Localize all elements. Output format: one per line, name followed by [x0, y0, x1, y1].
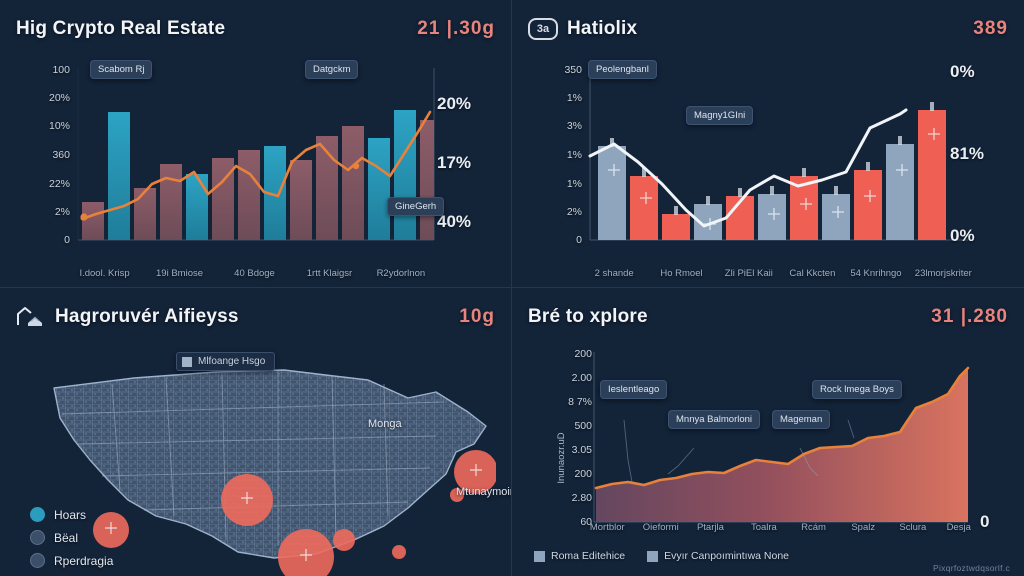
x-tick: Ptarjla	[697, 522, 724, 533]
map-value: 10g	[459, 306, 495, 328]
y-tick: 0	[64, 234, 70, 246]
y-tick: 500	[574, 420, 592, 432]
y-tick: 2.80	[572, 492, 592, 504]
legend-label: Bëal	[54, 531, 78, 545]
panel-crypto: Hig Crypto Real Estate 21 |.30g	[0, 0, 512, 288]
legend-item[interactable]: Rperdragia	[30, 549, 113, 572]
y-tick: 2%	[55, 206, 70, 218]
y-tick: 100	[52, 64, 70, 76]
explore-annotation[interactable]: Ieslentleago	[600, 380, 667, 399]
crypto-bars	[82, 110, 434, 240]
legend-swatch-icon	[534, 551, 545, 562]
hatiolix-y-axis: 350 1% 3% 1% 1% 2% 0	[538, 54, 582, 286]
crypto-y-right-axis: 20% 17% 40%	[437, 54, 489, 286]
panel-hatiolix: 3a Hatiolix 389	[512, 0, 1024, 288]
hatiolix-annotation[interactable]: Magny1GIni	[686, 106, 753, 125]
y-tick: 2%	[567, 206, 582, 218]
y-tick: 200	[574, 348, 592, 360]
badge-icon-label: 3a	[537, 23, 549, 35]
explore-divider	[528, 336, 1008, 338]
badge-icon: 3a	[528, 18, 558, 40]
map-tooltip[interactable]: Mlfoange Hsgo	[176, 352, 275, 371]
panel-explore-header: Bré to xplore 31 |.280	[528, 300, 1008, 334]
legend-label: Rperdragia	[54, 554, 113, 568]
hatiolix-value: 389	[973, 18, 1008, 40]
explore-chart[interactable]: Inunaozr.uD 200 2.00 8 7% 500 3.05 200 2…	[528, 342, 1008, 574]
crypto-chart[interactable]: 100 20% 10% 360 22% 2% 0 20% 17% 40% I.d…	[16, 54, 495, 286]
y-tick: 3%	[567, 120, 582, 132]
y-tick: 1%	[567, 149, 582, 161]
x-tick: Oieformi	[643, 522, 679, 533]
map-tooltip-swatch	[182, 357, 192, 367]
x-tick: Spalz	[851, 522, 875, 533]
crypto-annotation[interactable]: Scabom Rj	[90, 60, 152, 79]
panel-crypto-header: Hig Crypto Real Estate 21 |.30g	[16, 12, 495, 46]
legend-dot-icon	[30, 553, 45, 568]
map-note: Mtunaymoin	[456, 486, 512, 498]
x-tick: Ho Rmoel	[660, 268, 702, 279]
legend-item[interactable]: Bëal	[30, 526, 113, 549]
y-right-tick: 17%	[437, 153, 471, 173]
panel-hatiolix-header: 3a Hatiolix 389	[528, 12, 1008, 46]
crypto-annotation[interactable]: Datgckm	[305, 60, 358, 79]
explore-annotation[interactable]: Mageman	[772, 410, 830, 429]
x-tick: 2 shande	[595, 268, 634, 279]
y-tick: 1%	[567, 178, 582, 190]
panel-map: Hagroruvér Aifieyss 10g	[0, 288, 512, 576]
y-tick: 3.05	[572, 444, 592, 456]
page-title: Hig Crypto Real Estate	[16, 18, 225, 40]
panel-explore: Bré to xplore 31 |.280	[512, 288, 1024, 576]
y-tick: 350	[564, 64, 582, 76]
explore-chart-svg	[528, 342, 1008, 574]
y-tick: 360	[52, 149, 70, 161]
y-right-tick: 81%	[950, 144, 984, 164]
map-chart[interactable]: Mlfoange Hsgo Monga Mtunaymoin Hoars Bëa…	[16, 340, 495, 576]
hatiolix-title: Hatiolix	[567, 18, 637, 40]
hatiolix-annotation[interactable]: Peolengbanl	[588, 60, 657, 79]
explore-y-right-axis: 0	[980, 342, 1006, 574]
explore-title: Bré to xplore	[528, 306, 648, 328]
hatiolix-divider	[528, 48, 1008, 50]
x-tick: 54 Knrihngo	[850, 268, 901, 279]
crypto-divider	[16, 48, 495, 50]
x-tick: 23lmorjskriter	[915, 268, 972, 279]
y-tick: 8 7%	[568, 396, 592, 408]
crypto-point-start	[80, 213, 87, 220]
explore-y-axis: 200 2.00 8 7% 500 3.05 200 2.80 60	[548, 342, 592, 574]
explore-value: 31 |.280	[931, 306, 1008, 328]
explore-annotation[interactable]: Rock lmega Boys	[812, 380, 902, 399]
x-tick: Zli PiEl Kaii	[725, 268, 773, 279]
y-tick: 2.00	[572, 372, 592, 384]
x-tick: I.dool. Krisp	[79, 268, 129, 279]
y-tick: 22%	[49, 178, 70, 190]
house-icon	[16, 305, 46, 329]
legend-dot-icon	[30, 530, 45, 545]
map-tooltip-label: Mlfoange Hsgo	[198, 356, 265, 367]
explore-legend: Roma Editehice Evyır Canpoımintıwa None	[534, 550, 789, 562]
map-divider	[16, 336, 495, 338]
map-note: Monga	[368, 418, 402, 430]
x-tick: 40 Bdoge	[234, 268, 275, 279]
explore-annotation[interactable]: Mnnya Balmorloni	[668, 410, 760, 429]
x-tick: Sclura	[899, 522, 926, 533]
dashboard: Hig Crypto Real Estate 21 |.30g	[0, 0, 1024, 576]
crypto-annotation[interactable]: GineGerh	[387, 197, 444, 216]
explore-x-axis: Mortblor Oieformi Ptarjla Toalra Rcám Sp…	[592, 522, 974, 538]
y-tick: 0	[576, 234, 582, 246]
legend-dot-icon	[30, 507, 45, 522]
y-right-tick: 0%	[950, 226, 975, 246]
crypto-value: 21 |.30g	[417, 18, 495, 40]
legend-item[interactable]: Hoars	[30, 503, 113, 526]
y-tick: 200	[574, 468, 592, 480]
hatiolix-chart-svg	[528, 54, 1008, 286]
x-tick: Desja	[947, 522, 971, 533]
panel-map-header: Hagroruvér Aifieyss 10g	[16, 300, 495, 334]
y-tick: 20%	[49, 92, 70, 104]
y-tick: 1%	[567, 92, 582, 104]
legend-item[interactable]: Roma Editehice	[534, 550, 625, 562]
crypto-y-left-axis: 100 20% 10% 360 22% 2% 0	[26, 54, 70, 286]
x-tick: Rcám	[801, 522, 826, 533]
legend-item[interactable]: Evyır Canpoımintıwa None	[647, 550, 789, 562]
legend-label: Roma Editehice	[551, 550, 625, 562]
crypto-chart-svg	[16, 54, 496, 286]
legend-label: Hoars	[54, 508, 86, 522]
y-right-tick: 0	[980, 512, 989, 532]
explore-footnote: Pixqrfoztwdqsorlf.c	[933, 563, 1010, 573]
map-title: Hagroruvér Aifieyss	[55, 306, 239, 328]
legend-label: Evyır Canpoımintıwa None	[664, 550, 789, 562]
crypto-point-mid	[353, 163, 359, 169]
y-tick: 10%	[49, 120, 70, 132]
x-tick: R2ydorlnon	[377, 268, 426, 279]
hatiolix-x-axis: 2 shande Ho Rmoel Zli PiEl Kaii Cal Kkct…	[588, 268, 962, 284]
y-right-tick: 0%	[950, 62, 975, 82]
hatiolix-chart[interactable]: 350 1% 3% 1% 1% 2% 0 0% 81% 0% 2 shande …	[528, 54, 1008, 286]
x-tick: Mortblor	[590, 522, 625, 533]
crypto-x-axis: I.dool. Krisp 19i Bmiose 40 Bdoge 1rtt K…	[76, 268, 433, 284]
legend-swatch-icon	[647, 551, 658, 562]
x-tick: 19i Bmiose	[156, 268, 203, 279]
x-tick: Toalra	[751, 522, 777, 533]
map-legend: Hoars Bëal Rperdragia	[30, 503, 113, 572]
x-tick: 1rtt Klaigsr	[307, 268, 352, 279]
x-tick: Cal Kkcten	[789, 268, 835, 279]
y-right-tick: 20%	[437, 94, 471, 114]
hatiolix-y-right-axis: 0% 81% 0%	[950, 54, 1002, 286]
